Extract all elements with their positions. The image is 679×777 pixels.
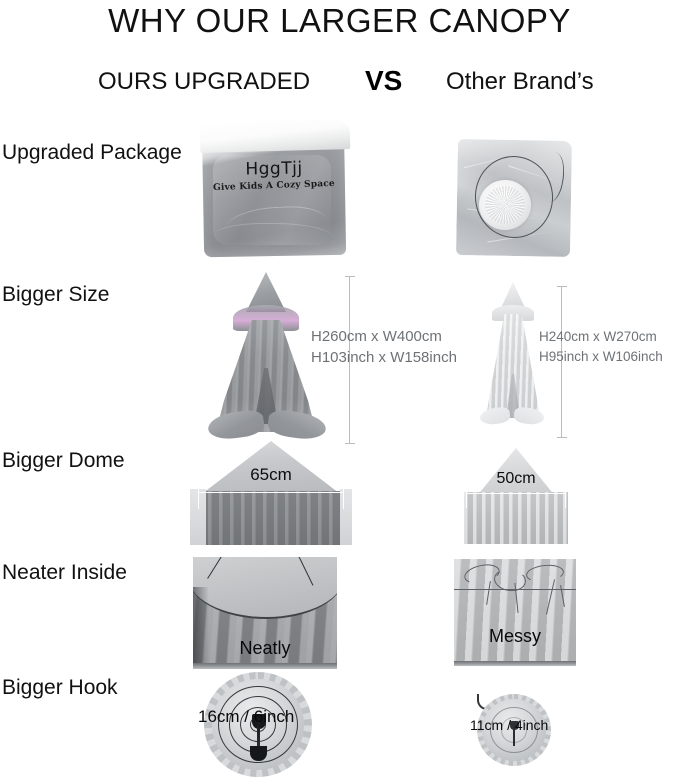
- other-dome-photo: 50cm: [460, 448, 572, 544]
- other-hook-measurement: 11cm / 4inch: [470, 717, 548, 733]
- hook-arm-curl: [250, 746, 266, 762]
- vs-label: VS: [365, 65, 402, 97]
- dome-measure-line: [198, 492, 344, 493]
- ours-upgraded-label: OURS UPGRADED: [98, 68, 310, 96]
- page-title: WHY OUR LARGER CANOPY: [0, 2, 679, 40]
- inside-photo-edge-right: [454, 661, 576, 666]
- row-label-neater-inside: Neater Inside: [2, 561, 127, 585]
- inside-photo-edge-left: [193, 663, 337, 669]
- ours-dimensions: H260cm x W400cm H103inch x W158inch: [311, 326, 457, 368]
- canopy-pooled-fabric-right: [266, 408, 327, 442]
- row-label-bigger-hook: Bigger Hook: [2, 676, 118, 700]
- other-inside-caption: Messy: [454, 626, 576, 647]
- ours-dimension-cm: H260cm x W400cm: [311, 326, 457, 347]
- canopy-pooled-fabric-left: [479, 406, 511, 426]
- brand-name-text: HggTjj: [203, 158, 345, 180]
- row-label-upgraded-package: Upgraded Package: [2, 141, 182, 165]
- ours-dimension-inch: H103inch x W158inch: [311, 347, 457, 368]
- package-bag-seal: [200, 119, 351, 153]
- row-label-bigger-dome: Bigger Dome: [2, 449, 125, 473]
- dome-skirt: [464, 492, 568, 544]
- other-dimension-cm: H240cm x W270cm: [539, 327, 663, 347]
- other-dimensions: H240cm x W270cm H95inch x W106inch: [539, 327, 663, 367]
- dome-measure-line: [466, 493, 566, 494]
- other-canopy-photo: [478, 282, 546, 442]
- row-label-bigger-size: Bigger Size: [2, 283, 109, 307]
- ours-inside-photo: Neatly: [193, 557, 337, 667]
- canopy-comparison-infographic: WHY OUR LARGER CANOPY OURS UPGRADED VS O…: [0, 0, 679, 777]
- other-dome-measurement: 50cm: [460, 470, 572, 488]
- comparison-header: OURS UPGRADED VS Other Brand’s: [0, 68, 679, 102]
- other-brand-label: Other Brand’s: [446, 68, 594, 96]
- other-dimension-inch: H95inch x W106inch: [539, 347, 663, 367]
- dome-skirt: [197, 491, 345, 545]
- ours-dome-measurement: 65cm: [190, 465, 352, 485]
- other-package-photo: [457, 140, 571, 256]
- ours-hook-measurement: 16cm / 6inch: [198, 707, 294, 727]
- package-fold: [215, 223, 333, 252]
- dome-edge-right: [340, 489, 352, 545]
- canopy-pooled-fabric-left: [206, 408, 265, 442]
- other-inside-photo: Messy: [454, 559, 576, 661]
- ours-package-photo: HggTjj Give Kids A Cozy Space: [203, 123, 345, 256]
- ours-dome-photo: 65cm: [190, 441, 352, 545]
- folded-fabric-disc: [479, 180, 531, 230]
- ours-inside-caption: Neatly: [193, 638, 337, 659]
- canopy-pooled-fabric-right: [513, 406, 545, 426]
